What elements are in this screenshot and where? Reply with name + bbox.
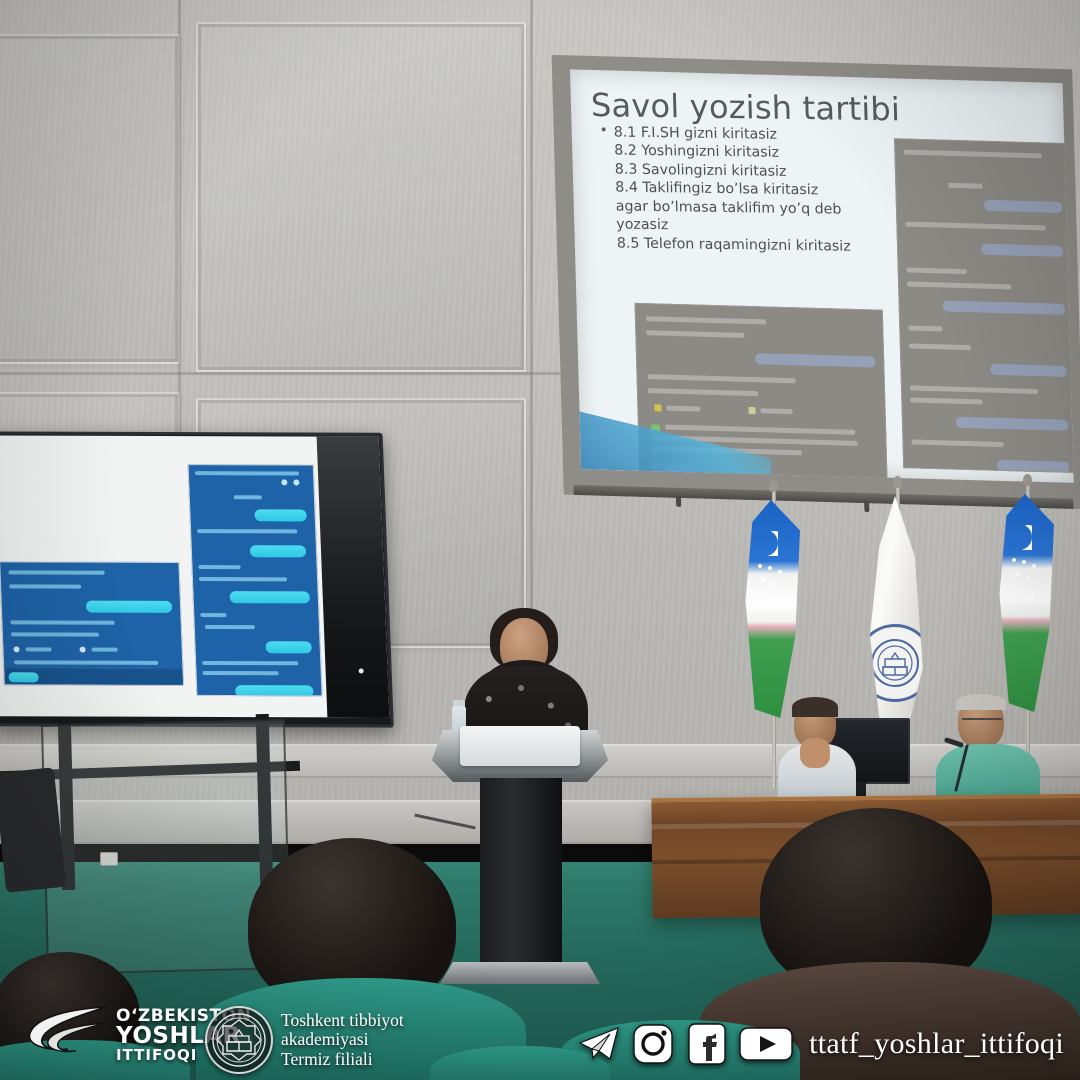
bullet-marker-icon [602, 127, 606, 131]
flag-pole-knob [1023, 474, 1032, 486]
social-handle: ttatf_yoshlar_ittifoqi [809, 1027, 1064, 1061]
panelist-hair [792, 697, 838, 717]
tv-screen [0, 435, 389, 717]
telegram-icon[interactable] [576, 1021, 621, 1066]
crescent-icon [1006, 524, 1032, 550]
podium-desktop-surface [460, 726, 580, 766]
academy-line-2: akademiyasi [281, 1030, 404, 1050]
academy-branding: Toshkent tibbiyot akademiyasi Termiz fil… [205, 1006, 404, 1074]
wall-panel [196, 22, 526, 372]
stars-icon [754, 562, 788, 610]
facebook-icon[interactable] [684, 1021, 729, 1066]
crescent-icon [752, 530, 778, 556]
academy-line-3: Termiz filiali [281, 1050, 404, 1070]
panelist-glasses-icon [962, 718, 1002, 727]
academy-line-1: Toshkent tibbiyot [281, 1011, 404, 1031]
instagram-icon[interactable] [630, 1021, 675, 1066]
photo-canvas: Savol yozish tartibi 8.1 F.I.SH gizni ki… [0, 0, 1080, 1080]
stars-icon [1008, 556, 1042, 604]
podium-column [480, 778, 562, 974]
projection-screen: Savol yozish tartibi 8.1 F.I.SH gizni ki… [552, 55, 1080, 509]
screen-hook [864, 501, 869, 512]
panelist-hands [800, 738, 830, 768]
presentation-slide: Savol yozish tartibi 8.1 F.I.SH gizni ki… [570, 69, 1074, 483]
left-tv-display [0, 431, 394, 727]
tv-telegram-chat-wide [0, 561, 184, 686]
flag-pole-knob [893, 476, 902, 488]
branding-overlay: O‘ZBEKISTON YOSHLAR ITTIFOQI Toshkent ti… [0, 988, 1080, 1080]
wall-panel [0, 34, 180, 364]
slide-screenshot-right [894, 138, 1074, 473]
wall-seam [530, 0, 533, 700]
tv-telegram-chat-tall [188, 464, 323, 696]
screen-hook [676, 496, 681, 507]
youtube-icon[interactable] [738, 1021, 794, 1066]
podium-base [440, 962, 600, 984]
academy-seal-icon [205, 1006, 273, 1074]
social-media-bar: ttatf_yoshlar_ittifoqi [576, 1021, 1064, 1066]
academy-name: Toshkent tibbiyot akademiyasi Termiz fil… [281, 1011, 404, 1070]
flag-pole-knob [769, 480, 778, 492]
panelist-left [772, 700, 862, 810]
slide-title: Savol yozish tartibi [591, 89, 1050, 127]
tv-power-led [359, 669, 364, 674]
tv-dark-region [317, 437, 390, 718]
youth-union-swoosh-icon [26, 1005, 110, 1065]
panelist-hair [956, 694, 1006, 710]
wall-seam [0, 372, 560, 375]
